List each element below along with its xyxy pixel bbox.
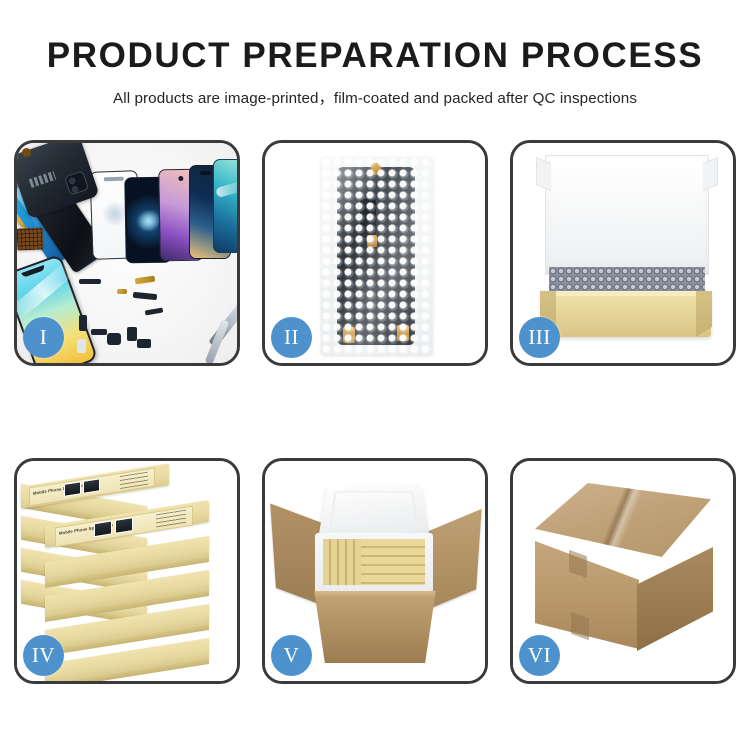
page-title: PRODUCT PREPARATION PROCESS <box>0 38 750 73</box>
tray-rim <box>541 291 711 296</box>
bag-highlight <box>321 157 433 355</box>
small-connector-part <box>91 329 107 335</box>
carton-front-wall <box>309 591 441 663</box>
process-step-card-6: VI <box>510 458 736 684</box>
box-lid-white <box>545 155 709 275</box>
label-phone-thumb <box>94 520 112 537</box>
label-phone-thumb <box>64 481 81 497</box>
label-spec-lines <box>120 472 148 489</box>
gold-flex-part <box>135 276 156 285</box>
gold-contact-part <box>117 289 127 294</box>
flex-cable-part <box>133 292 157 300</box>
page-header: PRODUCT PREPARATION PROCESS All products… <box>0 0 750 108</box>
boxes-horizontal-group <box>361 539 425 585</box>
small-connector-part <box>79 315 87 331</box>
packed-kraft-boxes <box>323 539 425 585</box>
step-badge-1: I <box>23 317 64 358</box>
step-badge-3: III <box>519 317 560 358</box>
label-phone-thumb <box>115 517 133 534</box>
process-step-card-5: V <box>262 458 488 684</box>
carton-right-face <box>637 547 713 651</box>
kraft-box-tray <box>541 291 711 337</box>
step-badge-6: VI <box>519 635 560 676</box>
housing-logo <box>29 171 57 188</box>
styrofoam-lid <box>318 485 430 540</box>
sim-tray-part <box>77 339 86 353</box>
label-phone-thumb <box>83 478 100 494</box>
button-part <box>137 339 151 348</box>
carton-top-face <box>535 483 711 557</box>
vibrator-part <box>127 327 137 341</box>
process-step-card-1: I <box>14 140 240 366</box>
bubble-wrap-bag <box>321 157 433 355</box>
flex-cable-part <box>145 307 164 315</box>
step-badge-2: II <box>271 317 312 358</box>
carton-rim <box>309 591 441 599</box>
chip-contact-grid <box>17 228 43 251</box>
step-badge-5: V <box>271 635 312 676</box>
process-step-card-3: III <box>510 140 736 366</box>
step-badge-4: IV <box>23 635 64 676</box>
label-spec-lines <box>156 510 186 529</box>
speaker-part <box>107 333 121 345</box>
flex-cable-part <box>79 279 101 284</box>
process-step-card-2: II <box>262 140 488 366</box>
process-step-grid: I II <box>14 140 736 684</box>
phone-teal-swirl <box>213 159 237 253</box>
boxes-vertical-group <box>323 539 361 585</box>
camera-module-icon <box>64 170 89 195</box>
carton-seam <box>535 483 711 557</box>
process-step-card-4: Mobile Phone Spare Parts Mobile Phone Sp… <box>14 458 240 684</box>
tray-side-right <box>696 291 712 337</box>
page-subtitle: All products are image-printed，film-coat… <box>0 86 750 108</box>
